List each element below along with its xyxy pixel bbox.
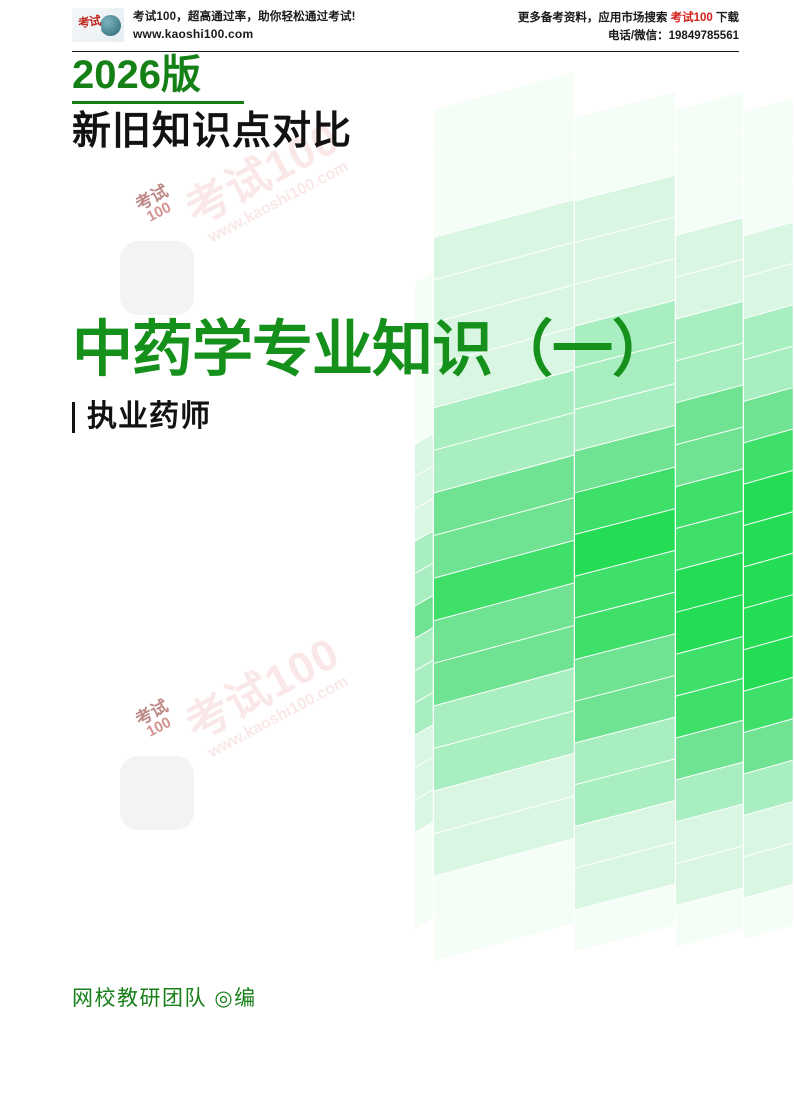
kaoshi100-logo-icon: 考试 100 (72, 8, 124, 42)
author-credit: 网校教研团队 ◎编 (72, 982, 257, 1012)
logo-num-text: 100 (85, 24, 100, 36)
header-contact: 电话/微信：19849785561 (518, 28, 739, 44)
header-right-block: 更多备考资料，应用市场搜索 考试100 下载 电话/微信：19849785561 (518, 10, 739, 44)
header-left-block: 考试 100 考试100，超高通过率，助你轻松通过考试! www.kaoshi1… (72, 8, 356, 42)
comparison-label: 新旧知识点对比 (72, 109, 352, 155)
header-download-hint: 更多备考资料，应用市场搜索 考试100 下载 (518, 10, 739, 26)
subtitle-accent-bar (72, 402, 75, 433)
title-block: 中药学专业知识（一） 执业药师 (72, 312, 672, 434)
download-hint-prefix: 更多备考资料，应用市场搜索 (518, 12, 671, 24)
header-left-text: 考试100，超高通过率，助你轻松通过考试! www.kaoshi100.com (133, 8, 356, 42)
banner-block: 2026版 新旧知识点对比 (72, 52, 352, 155)
download-hint-brand: 考试100 (671, 12, 713, 24)
edition-underline (72, 101, 244, 104)
page-subtitle: 执业药师 (87, 400, 211, 434)
page-header: 考试 100 考试100，超高通过率，助你轻松通过考试! www.kaoshi1… (0, 0, 794, 52)
subtitle-row: 执业药师 (72, 400, 672, 434)
logo-circle-shape (100, 15, 121, 36)
download-hint-suffix: 下载 (713, 12, 739, 24)
page-title: 中药学专业知识（一） (72, 312, 672, 386)
edition-label: 2026版 (72, 52, 352, 98)
cover-content: 考试 100 考试100，超高通过率，助你轻松通过考试! www.kaoshi1… (0, 0, 794, 1098)
header-slogan: 考试100，超高通过率，助你轻松通过考试! (133, 9, 356, 25)
page-footer: 网校教研团队 ◎编 (72, 982, 257, 1012)
header-website: www.kaoshi100.com (133, 26, 356, 42)
book-cover-page: 考试100考试100www.kaoshi100.com考试100考试100www… (0, 0, 794, 1098)
